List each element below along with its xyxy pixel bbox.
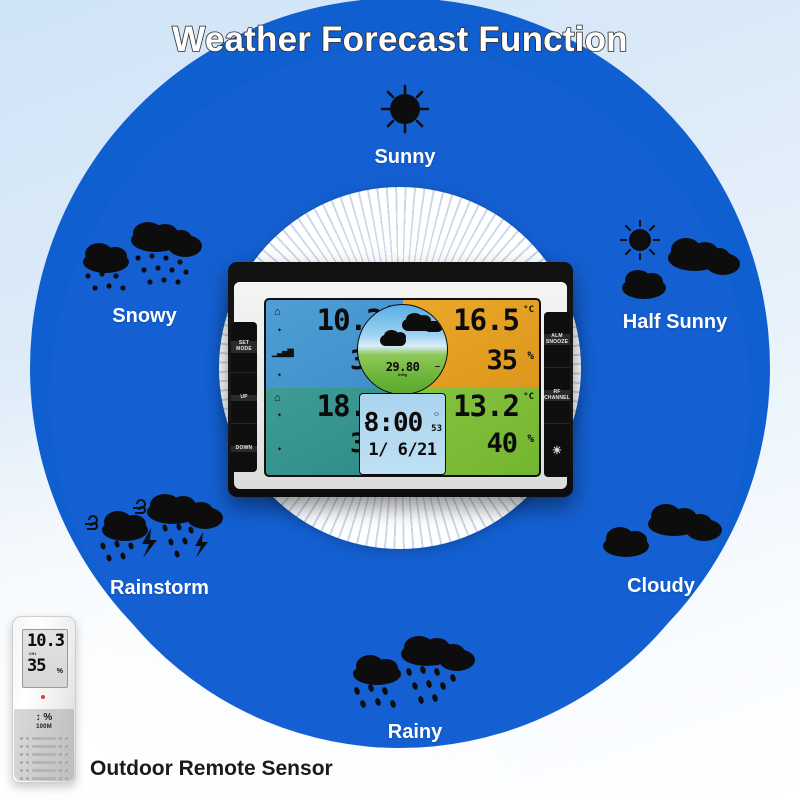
vent-dot <box>59 745 62 748</box>
vent-bar <box>32 777 56 780</box>
left-button-column: SET MODE UP DOWN <box>231 322 257 472</box>
cloud-rain-icon <box>330 636 500 719</box>
vent-dot <box>20 737 23 740</box>
vent-dot <box>20 745 23 748</box>
lcd-center-column: 29.80 inHg – - 8:00 ☺ 53 1/ 6/21 <box>358 300 447 475</box>
cloud-snow-icon <box>62 216 227 303</box>
vent-dot <box>26 777 29 780</box>
outdoor-remote-sensor: 10.3 °C CH1 35 % ↕ % 100M <box>12 616 76 783</box>
vent-dot <box>59 761 62 764</box>
weather-item-half-sunny: Half Sunny <box>600 218 750 334</box>
vent-row <box>20 745 68 748</box>
weather-label-half-sunny: Half Sunny <box>600 311 750 334</box>
backlight-button[interactable]: ☀ <box>544 424 570 479</box>
lcd-display: ⌂ ✦ ▁▃▅▇ ✦ 10.3 °C 35 % ⌂ HI ↓↑↓ LO ▁▃▅▇… <box>264 298 541 477</box>
vent-dot <box>26 769 29 772</box>
vent-dot <box>65 753 68 756</box>
ch2-temperature: 16.5 <box>453 306 519 335</box>
ch1-trend-icon: ✦ <box>277 412 282 419</box>
weather-item-rainstorm: Rainstorm <box>72 494 247 600</box>
vent-bar <box>32 761 56 764</box>
ch2-humidity: 35 <box>486 347 517 374</box>
ch3-humidity: 40 <box>486 430 517 457</box>
vent-row <box>20 777 68 780</box>
clock-seconds: 53 <box>431 425 442 434</box>
sensor-temp-unit: °C <box>57 634 64 641</box>
page-title: Weather Forecast Function <box>0 20 800 60</box>
clock-time: 8:00 <box>362 410 424 436</box>
weather-station-device: SET MODE UP DOWN ALM SNOOZE RF CHANNEL ☀ <box>228 262 573 497</box>
weather-label-sunny: Sunny <box>340 146 470 169</box>
clock-date: 1/ 6/21 <box>360 442 445 459</box>
up-button[interactable]: UP <box>231 373 257 424</box>
cloud-lightning-rain-icon <box>72 494 247 575</box>
alarm-bell-icon: ☺ <box>433 411 440 418</box>
weather-item-snowy: Snowy <box>62 216 227 328</box>
ch3-humidity-unit: % <box>527 433 534 444</box>
vent-dot <box>65 745 68 748</box>
sensor-lower-housing: ↕ % 100M <box>14 709 74 781</box>
vent-dot <box>59 777 62 780</box>
vent-dot <box>65 777 68 780</box>
rf-line2: CHANNEL <box>544 396 570 402</box>
vent-dot <box>26 737 29 740</box>
vent-bar <box>32 745 56 748</box>
vent-dot <box>26 745 29 748</box>
indoor-hum-trend-icon: ✦ <box>277 372 282 379</box>
vent-row <box>20 769 68 772</box>
sensor-humidity-unit: % <box>57 668 63 675</box>
vent-row <box>20 737 68 740</box>
indoor-trend-icon: ✦ <box>277 327 282 334</box>
outdoor-home-icon-ch1: ⌂ <box>274 393 281 404</box>
down-button[interactable]: DOWN <box>231 424 257 474</box>
vent-dot <box>20 769 23 772</box>
right-button-column: ALM SNOOZE RF CHANNEL ☀ <box>544 312 570 477</box>
set-mode-line2: MODE <box>231 347 257 353</box>
weather-item-cloudy: Cloudy <box>586 498 736 598</box>
vent-dot <box>59 737 62 740</box>
sun-behind-cloud-icon <box>600 218 750 313</box>
vent-row <box>20 761 68 764</box>
rf-channel-button[interactable]: RF CHANNEL <box>544 368 570 424</box>
weather-label-cloudy: Cloudy <box>586 575 736 598</box>
set-mode-button[interactable]: SET MODE <box>231 322 257 373</box>
vent-dot <box>59 769 62 772</box>
weather-label-snowy: Snowy <box>62 305 227 328</box>
ch3-temp-unit: °C <box>523 393 534 402</box>
scene-cloud-g <box>394 332 406 342</box>
vent-dot <box>26 761 29 764</box>
indoor-home-icon: ⌂ <box>274 307 281 318</box>
ch3-temperature: 13.2 <box>453 392 519 421</box>
sensor-lcd-display: 10.3 °C CH1 35 % <box>22 629 68 688</box>
ch2-humidity-unit: % <box>527 350 534 361</box>
sensor-range-marking: ↕ % 100M <box>14 713 74 730</box>
sun-icon <box>340 82 470 143</box>
ch1-hum-trend-icon: ✦ <box>277 446 282 453</box>
vent-bar <box>32 753 56 756</box>
up-button-label: UP <box>231 395 257 401</box>
alarm-snooze-button[interactable]: ALM SNOOZE <box>544 312 570 368</box>
forecast-scene-icon: 29.80 inHg – <box>357 304 448 395</box>
cloud-icon <box>586 498 736 569</box>
weather-item-rainy: Rainy <box>330 636 500 744</box>
vent-dot <box>20 777 23 780</box>
sensor-vent-grille <box>20 737 68 785</box>
sensor-range-value: 100M <box>14 724 74 730</box>
ch2-temp-unit: °C <box>523 306 534 315</box>
weather-item-sunny: Sunny <box>340 82 470 169</box>
device-front-panel: SET MODE UP DOWN ALM SNOOZE RF CHANNEL ☀ <box>234 282 567 489</box>
vent-dot <box>65 761 68 764</box>
scene-cloud-d <box>424 321 443 332</box>
weather-label-rainstorm: Rainstorm <box>72 577 247 600</box>
vent-row <box>20 753 68 756</box>
vent-dot <box>20 753 23 756</box>
weather-label-rainy: Rainy <box>330 721 500 744</box>
transmission-range-icon: ↕ % <box>36 712 53 723</box>
lcd-clock-panel: - 8:00 ☺ 53 1/ 6/21 <box>359 393 446 475</box>
sun-brightness-icon: ☀ <box>544 445 570 458</box>
down-button-label: DOWN <box>231 446 257 452</box>
vent-dot <box>65 737 68 740</box>
sensor-humidity: 35 <box>27 658 45 675</box>
vent-dot <box>65 769 68 772</box>
signal-bars-icon: ▁▃▅▇ <box>272 348 293 357</box>
vent-dot <box>59 753 62 756</box>
vent-bar <box>32 769 56 772</box>
pressure-trend-icon: – <box>435 361 440 371</box>
pressure-unit: inHg <box>358 372 447 377</box>
sensor-caption: Outdoor Remote Sensor <box>90 757 333 781</box>
tx-led-indicator <box>41 695 45 699</box>
vent-dot <box>20 761 23 764</box>
vent-bar <box>32 737 56 740</box>
vent-dot <box>26 753 29 756</box>
alarm-line2: SNOOZE <box>544 340 570 346</box>
